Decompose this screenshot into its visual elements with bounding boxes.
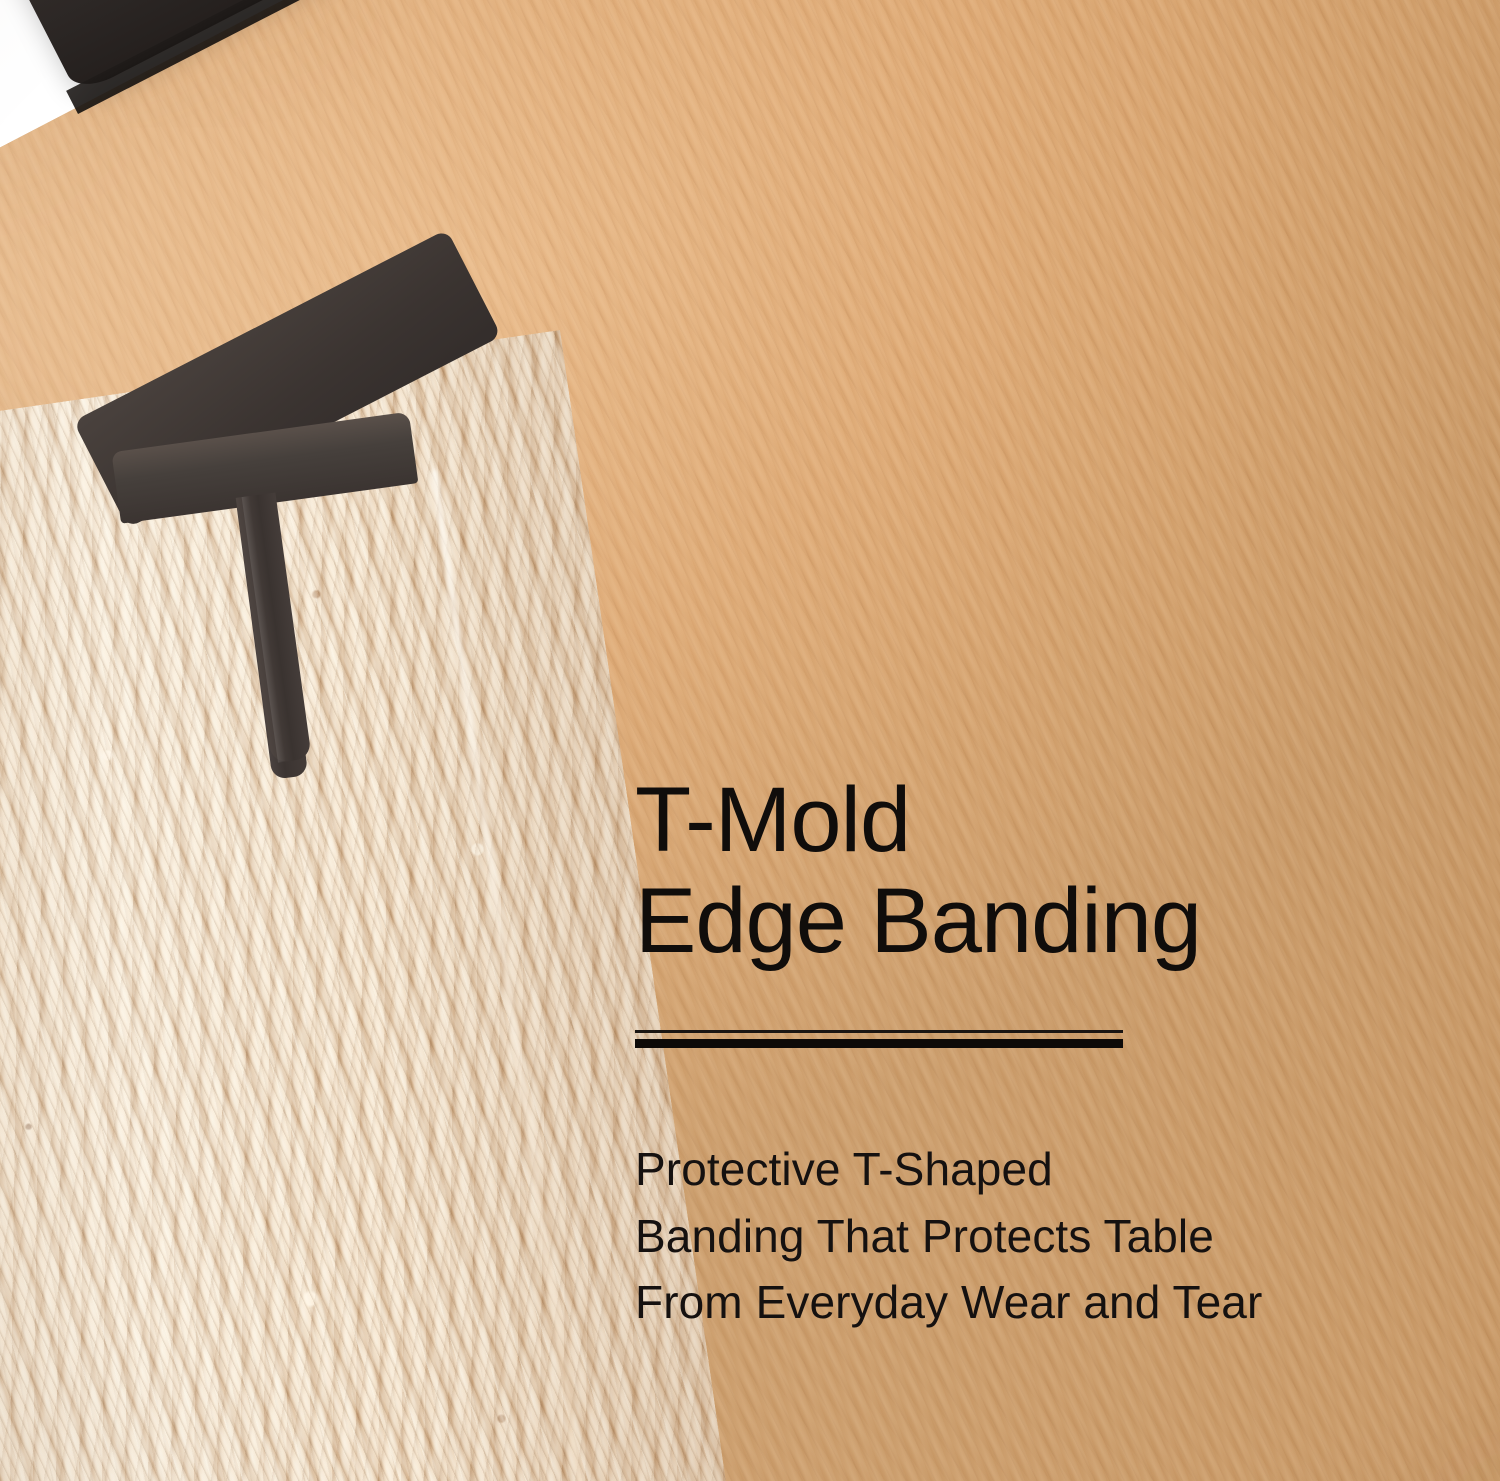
t-mold-cross-section: [111, 412, 457, 809]
divider: [635, 1030, 1123, 1048]
product-feature-image: T-Mold Edge Banding Protective T-Shaped …: [0, 0, 1500, 1481]
divider-thick-line: [635, 1039, 1123, 1048]
subcopy: Protective T-Shaped Banding That Protect…: [635, 1136, 1415, 1335]
text-panel: T-Mold Edge Banding Protective T-Shaped …: [635, 770, 1415, 1335]
headline: T-Mold Edge Banding: [635, 770, 1415, 972]
t-profile-stem: [236, 492, 312, 763]
